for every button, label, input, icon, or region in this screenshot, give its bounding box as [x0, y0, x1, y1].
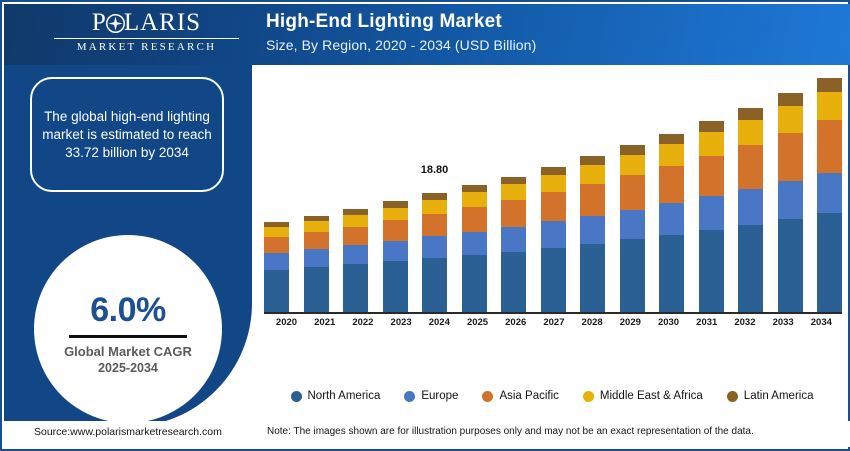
bar-segment [659, 203, 684, 235]
x-axis-tick-label: 2029 [618, 317, 643, 335]
bar-segment [580, 156, 605, 165]
bar-segment [580, 184, 605, 216]
bar-segment [304, 232, 329, 249]
bar-segment [462, 192, 487, 207]
bar-segment [738, 145, 763, 189]
bar-segment [264, 237, 289, 253]
bar-segment [699, 196, 724, 230]
bar-segment [343, 245, 368, 264]
bar-column [699, 38, 724, 339]
compass-star-icon [106, 12, 125, 31]
polaris-logo: PLARIS MARKET RESEARCH [54, 9, 239, 61]
bar-column: 18.80 [422, 38, 447, 339]
bar-segment [501, 184, 526, 200]
bar-segment [699, 230, 724, 312]
bar-segment [778, 219, 803, 312]
bar-segment [620, 155, 645, 175]
bar-segment [501, 227, 526, 252]
legend-item[interactable]: Middle East & Africa [583, 390, 703, 402]
bar-segment [699, 156, 724, 197]
legend-color-swatch [482, 391, 493, 402]
logo-tagline: MARKET RESEARCH [54, 41, 239, 53]
bar-segment [462, 232, 487, 255]
bar-segment [817, 120, 842, 172]
bar-segment [462, 255, 487, 312]
bar-segment [817, 173, 842, 214]
bar-segment [778, 133, 803, 181]
infographic-root: PLARIS MARKET RESEARCH High-End Lighting… [0, 0, 850, 451]
bar-segment [620, 175, 645, 209]
x-axis-tick-label: 2021 [312, 317, 337, 335]
cagr-badge: 6.0% Global Market CAGR 2025-2034 [34, 235, 222, 423]
bar-segment [383, 241, 408, 261]
bar-segment [817, 213, 842, 312]
bar-segment [541, 248, 566, 312]
bar-segment [422, 258, 447, 312]
bar-segment [264, 253, 289, 270]
bar-segment [817, 78, 842, 92]
bar-segment [383, 220, 408, 240]
bar-column [659, 38, 684, 339]
bar-segment [580, 244, 605, 312]
bar-segment [580, 165, 605, 184]
bar-column [264, 38, 289, 339]
cagr-label-primary: Global Market CAGR [64, 344, 192, 359]
x-axis-tick-label: 2031 [694, 317, 719, 335]
x-axis-tick-label: 2033 [771, 317, 796, 335]
chart-legend: North AmericaEuropeAsia PacificMiddle Ea… [254, 385, 850, 407]
legend-label: Europe [421, 390, 458, 402]
bar-column [343, 38, 368, 339]
logo-letters-laris: LARIS [124, 9, 201, 36]
bar-column [501, 38, 526, 339]
cagr-divider [69, 335, 187, 338]
bar-segment [738, 120, 763, 145]
bar-segment [659, 166, 684, 203]
bar-segment [304, 267, 329, 312]
bar-segment [541, 221, 566, 247]
bar-segment [462, 207, 487, 232]
page-title: High-End Lighting Market [266, 11, 502, 33]
bar-segment [620, 145, 645, 155]
x-axis-tick-label: 2023 [389, 317, 414, 335]
bar-segment [422, 193, 447, 200]
bar-column [383, 38, 408, 339]
x-axis-line [264, 312, 842, 314]
bar-segment [343, 264, 368, 312]
bar-segment [620, 210, 645, 240]
legend-item[interactable]: North America [291, 390, 381, 402]
cagr-label-period: 2025-2034 [98, 361, 158, 375]
bar-segment [304, 221, 329, 232]
x-axis-tick-label: 2020 [274, 317, 299, 335]
legend-label: North America [308, 390, 381, 402]
legend-item[interactable]: Asia Pacific [482, 390, 558, 402]
bar-segment [738, 189, 763, 225]
legend-label: Latin America [744, 390, 814, 402]
bar-column [817, 38, 842, 339]
x-axis-labels: 2020202120222023202420252026202720282029… [274, 317, 834, 335]
bar-segment [501, 177, 526, 185]
bar-segment [738, 225, 763, 312]
x-axis-tick-label: 2025 [465, 317, 490, 335]
bar-segment [383, 261, 408, 312]
x-axis-tick-label: 2028 [580, 317, 605, 335]
cagr-value: 6.0% [90, 291, 166, 330]
bar-segment [343, 215, 368, 227]
bar-column [541, 38, 566, 339]
bar-segment [422, 200, 447, 214]
legend-color-swatch [404, 391, 415, 402]
chart-plot-area: 18.80 2020202120222023202420252026202720… [264, 65, 842, 339]
x-axis-tick-label: 2034 [809, 317, 834, 335]
bar-segment [501, 252, 526, 312]
bar-column [778, 38, 803, 339]
bar-column [580, 38, 605, 339]
x-axis-tick-label: 2026 [503, 317, 528, 335]
bar-value-label: 18.80 [421, 164, 449, 176]
x-axis-tick-label: 2027 [541, 317, 566, 335]
bar-segment [620, 239, 645, 312]
note-text: Note: The images shown are for illustrat… [267, 426, 754, 437]
bar-segment [343, 227, 368, 246]
bar-segment [264, 227, 289, 237]
bar-segment [541, 175, 566, 192]
bar-segment [738, 108, 763, 120]
x-axis-tick-label: 2032 [732, 317, 757, 335]
market-callout-box: The global high-end lighting market is e… [30, 77, 224, 192]
legend-color-swatch [291, 391, 302, 402]
bar-segment [659, 134, 684, 144]
bar-column [462, 38, 487, 339]
bar-segment [264, 270, 289, 312]
bar-segment [699, 132, 724, 155]
x-axis-tick-label: 2024 [427, 317, 452, 335]
bar-segment [304, 249, 329, 267]
logo-divider [54, 38, 239, 39]
bar-segment [501, 200, 526, 227]
bar-group: 18.80 [264, 65, 842, 339]
bar-segment [699, 121, 724, 132]
bar-segment [383, 208, 408, 221]
legend-item[interactable]: Latin America [727, 390, 814, 402]
stacked-bar-chart: 18.80 2020202120222023202420252026202720… [254, 65, 850, 365]
bar-segment [778, 181, 803, 220]
bar-segment [817, 92, 842, 121]
market-callout-text: The global high-end lighting market is e… [32, 108, 222, 162]
legend-label: Asia Pacific [499, 390, 558, 402]
bar-segment [778, 106, 803, 133]
legend-label: Middle East & Africa [600, 390, 703, 402]
bar-segment [462, 185, 487, 192]
source-text: Source:www.polarismarketresearch.com [34, 426, 222, 438]
bar-segment [541, 167, 566, 175]
logo-letter-p: P [92, 9, 107, 36]
bar-column [738, 38, 763, 339]
bar-segment [580, 216, 605, 244]
bar-segment [541, 192, 566, 221]
legend-item[interactable]: Europe [404, 390, 458, 402]
bar-segment [778, 93, 803, 106]
legend-color-swatch [583, 391, 594, 402]
bar-column [304, 38, 329, 339]
bar-column [620, 38, 645, 339]
bar-segment [422, 214, 447, 237]
x-axis-tick-label: 2030 [656, 317, 681, 335]
logo-wordmark: PLARIS [54, 9, 239, 37]
bar-segment [659, 235, 684, 312]
legend-color-swatch [727, 391, 738, 402]
bar-segment [422, 236, 447, 258]
footer-bar: Source:www.polarismarketresearch.com Not… [4, 421, 850, 447]
x-axis-tick-label: 2022 [350, 317, 375, 335]
bar-segment [659, 144, 684, 166]
